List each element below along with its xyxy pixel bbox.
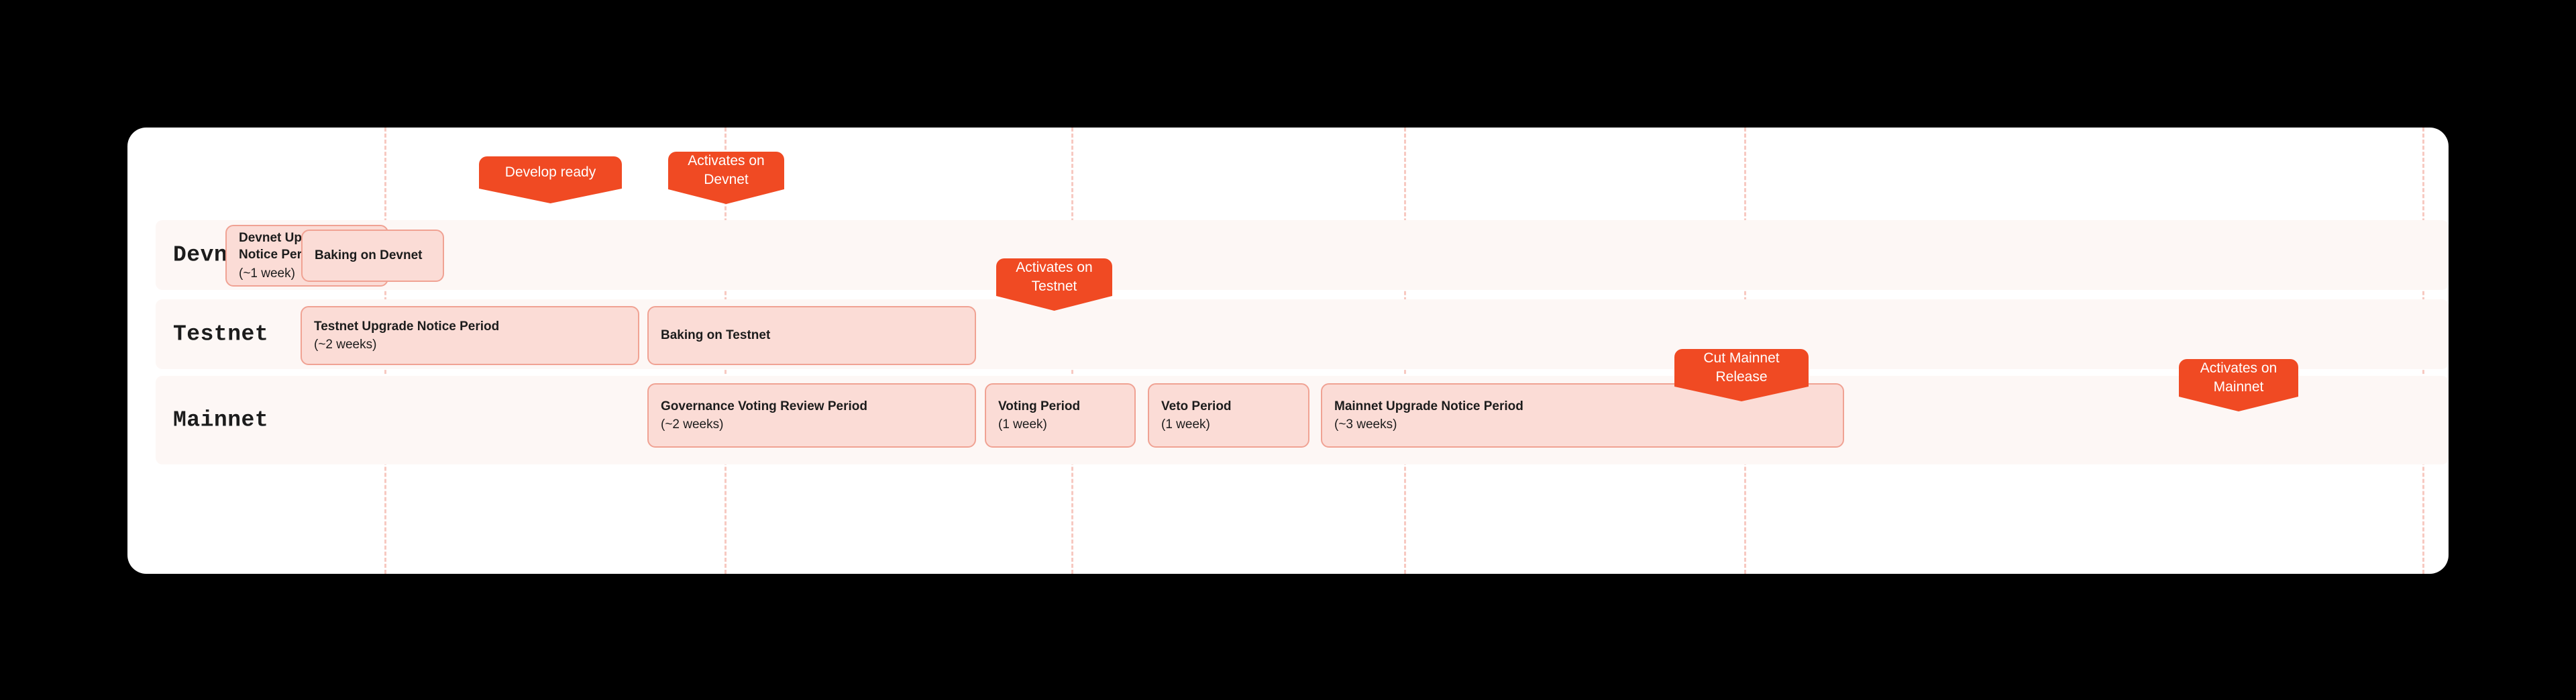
milestone-label-line1: Cut Mainnet	[1703, 349, 1779, 368]
bar-baking-on-devnet[interactable]: Baking on Devnet	[301, 230, 444, 282]
bar-title: Testnet Upgrade Notice Period	[314, 318, 626, 335]
milestone-label-line2: Testnet	[1032, 277, 1077, 296]
lane-label-testnet: Testnet	[173, 322, 268, 347]
bar-duration: (~2 weeks)	[661, 416, 963, 433]
milestone-label-line1: Activates on	[688, 152, 764, 170]
milestone-activates-on-mainnet[interactable]: Activates on Mainnet	[2179, 359, 2298, 397]
timeline-card: Devnet Testnet Mainnet Devnet Upgrade No…	[127, 128, 2449, 574]
bar-title: Voting Period	[998, 398, 1122, 415]
milestone-activates-on-testnet[interactable]: Activates on Testnet	[996, 258, 1112, 296]
bar-testnet-upgrade-notice-period[interactable]: Testnet Upgrade Notice Period (~2 weeks)	[301, 306, 639, 365]
bar-title: Veto Period	[1161, 398, 1296, 415]
milestone-label-line2: Mainnet	[2214, 378, 2264, 397]
bar-duration: (~2 weeks)	[314, 336, 626, 353]
milestone-label-line1: Activates on	[2200, 359, 2277, 378]
bar-governance-voting-review-period[interactable]: Governance Voting Review Period (~2 week…	[647, 383, 976, 448]
bar-title: Mainnet Upgrade Notice Period	[1334, 398, 1831, 415]
milestone-develop-ready[interactable]: Develop ready	[479, 156, 622, 189]
bar-baking-on-testnet[interactable]: Baking on Testnet	[647, 306, 976, 365]
bar-veto-period[interactable]: Veto Period (1 week)	[1148, 383, 1309, 448]
milestone-label-line2: Release	[1715, 368, 1767, 387]
lane-devnet: Devnet	[156, 220, 2449, 290]
bar-duration: (1 week)	[998, 416, 1122, 433]
milestone-activates-on-devnet[interactable]: Activates on Devnet	[668, 152, 784, 189]
bar-title: Governance Voting Review Period	[661, 398, 963, 415]
lane-label-mainnet: Mainnet	[173, 408, 268, 433]
bar-voting-period[interactable]: Voting Period (1 week)	[985, 383, 1136, 448]
milestone-label-line1: Activates on	[1016, 258, 1092, 277]
milestone-label-line2: Devnet	[704, 170, 749, 189]
milestone-label: Develop ready	[505, 163, 596, 182]
bar-duration: (~3 weeks)	[1334, 416, 1831, 433]
bar-title: Baking on Testnet	[661, 327, 963, 344]
diagram-canvas: Devnet Testnet Mainnet Devnet Upgrade No…	[0, 0, 2576, 700]
bar-duration: (1 week)	[1161, 416, 1296, 433]
bar-title: Baking on Devnet	[315, 247, 431, 264]
milestone-cut-mainnet-release[interactable]: Cut Mainnet Release	[1674, 349, 1809, 387]
